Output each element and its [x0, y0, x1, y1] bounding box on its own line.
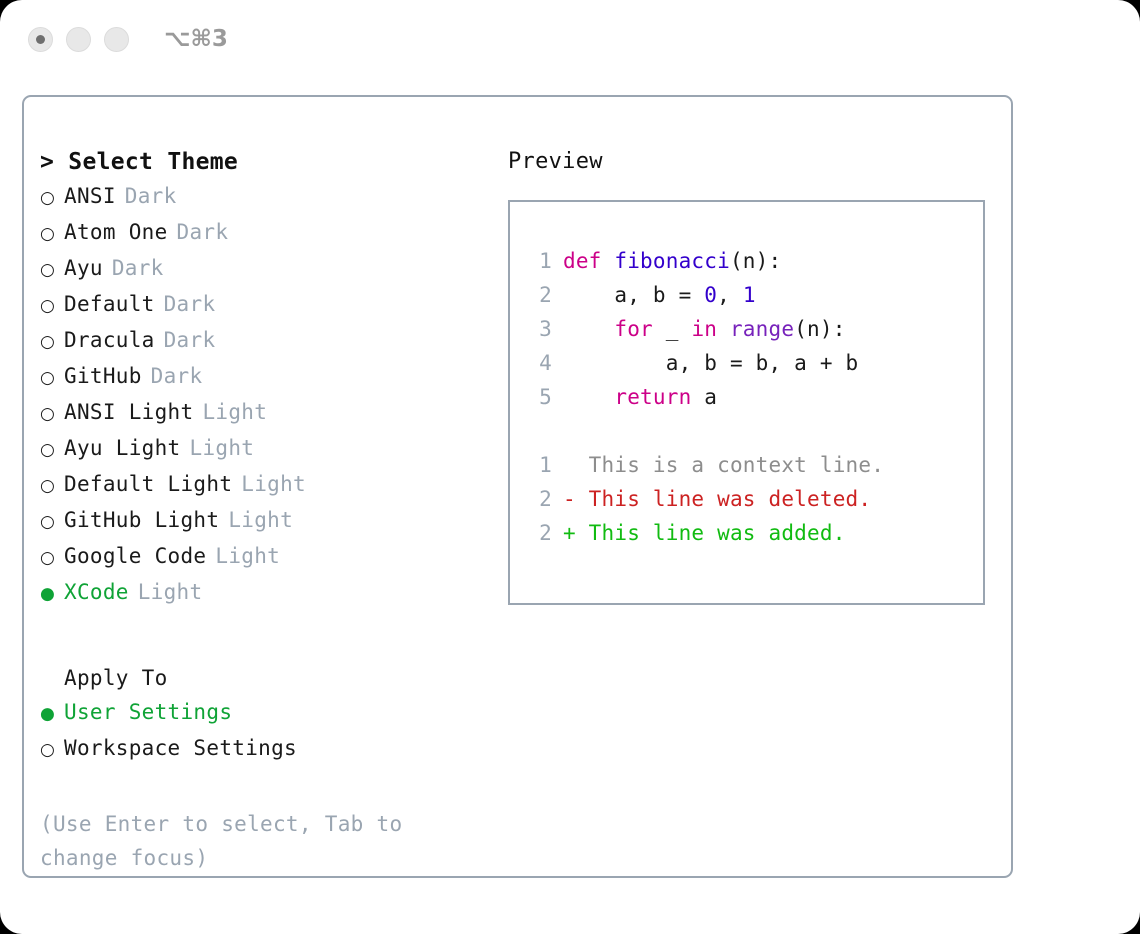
theme-option-tag: Light — [241, 467, 306, 501]
radio-unselected-icon: ○ — [40, 217, 64, 251]
code-line-number: 2 — [526, 278, 552, 312]
apply-to-list: ●User Settings○Workspace Settings — [40, 695, 494, 767]
radio-unselected-icon: ○ — [40, 253, 64, 287]
radio-unselected-icon: ○ — [40, 541, 64, 575]
theme-option-label: XCode — [64, 575, 129, 609]
diff-sample: 1 This is a context line.2- This line wa… — [526, 448, 983, 550]
theme-option-tag: Dark — [177, 215, 229, 249]
code-token-kw: in — [691, 317, 717, 341]
apply-to-option-label: User Settings — [64, 695, 232, 729]
theme-option-label: ANSI — [64, 179, 116, 213]
keyboard-hint: (Use Enter to select, Tab to change focu… — [40, 807, 452, 875]
code-token-plain: (n): — [730, 249, 781, 273]
theme-option-label: Dracula — [64, 323, 155, 357]
code-token-fn: fibonacci — [614, 249, 730, 273]
code-token-kw: return — [614, 385, 691, 409]
code-token-plain: a, b = b, a + b — [563, 351, 858, 375]
diff-marker: - — [563, 482, 576, 516]
theme-option-label: Default — [64, 287, 155, 321]
theme-option-label: Google Code — [64, 539, 206, 573]
theme-option-ayu-light[interactable]: ○Ayu LightLight — [40, 431, 494, 467]
code-line-content: a, b = 0, 1 — [563, 278, 756, 312]
code-token-plain: a, b = — [563, 283, 704, 307]
preview-column: Preview 1def fibonacci(n):2 a, b = 0, 13… — [494, 97, 1011, 876]
apply-to-option-workspace-settings[interactable]: ○Workspace Settings — [40, 731, 494, 767]
code-line-content: def fibonacci(n): — [563, 244, 781, 278]
code-line: 1def fibonacci(n): — [526, 244, 983, 278]
radio-unselected-icon: ○ — [40, 289, 64, 323]
theme-option-default[interactable]: ○DefaultDark — [40, 287, 494, 323]
code-line-content: a, b = b, a + b — [563, 346, 858, 380]
theme-option-ayu[interactable]: ○AyuDark — [40, 251, 494, 287]
window-dot-second[interactable] — [66, 27, 91, 52]
theme-option-label: Atom One — [64, 215, 168, 249]
code-token-num: 0 — [704, 283, 717, 307]
code-token-kw: def — [563, 249, 614, 273]
theme-option-dracula[interactable]: ○DraculaDark — [40, 323, 494, 359]
theme-option-label: Ayu — [64, 251, 103, 285]
theme-option-label: Ayu Light — [64, 431, 181, 465]
radio-unselected-icon: ○ — [40, 505, 64, 539]
apply-to-option-user-settings[interactable]: ●User Settings — [40, 695, 494, 731]
code-line: 5 return a — [526, 380, 983, 414]
diff-line-content: This is a context line. — [576, 448, 884, 482]
code-token-plain — [717, 317, 730, 341]
radio-selected-icon: ● — [40, 577, 64, 611]
diff-line-ctx: 1 This is a context line. — [526, 448, 983, 482]
code-token-num: 1 — [743, 283, 756, 307]
code-token-plain: _ — [653, 317, 692, 341]
code-diff-spacer — [526, 414, 983, 448]
code-line-number: 1 — [526, 244, 552, 278]
keyboard-shortcut-label: ⌥⌘3 — [164, 26, 228, 52]
theme-option-tag: Dark — [151, 359, 203, 393]
code-token-plain — [563, 385, 614, 409]
code-line-content: return a — [563, 380, 717, 414]
code-line-content: for _ in range(n): — [563, 312, 846, 346]
theme-option-label: Default Light — [64, 467, 232, 501]
theme-option-default-light[interactable]: ○Default LightLight — [40, 467, 494, 503]
theme-option-xcode[interactable]: ●XCodeLight — [40, 575, 494, 611]
theme-option-label: GitHub — [64, 359, 142, 393]
code-token-kw: for — [614, 317, 653, 341]
theme-option-github[interactable]: ○GitHubDark — [40, 359, 494, 395]
theme-picker-window: ⌥⌘3 > Select Theme ○ANSIDark○Atom OneDar… — [0, 0, 1140, 934]
theme-option-tag: Light — [138, 575, 203, 609]
code-line-number: 4 — [526, 346, 552, 380]
window-dot-third[interactable] — [104, 27, 129, 52]
code-line: 4 a, b = b, a + b — [526, 346, 983, 380]
diff-marker — [563, 448, 576, 482]
diff-line-add: 2+ This line was added. — [526, 516, 983, 550]
code-sample: 1def fibonacci(n):2 a, b = 0, 13 for _ i… — [526, 244, 983, 414]
code-token-call: range — [730, 317, 794, 341]
diff-line-number: 2 — [526, 482, 552, 516]
theme-option-tag: Dark — [164, 287, 216, 321]
code-token-plain: a — [691, 385, 717, 409]
theme-option-tag: Dark — [112, 251, 164, 285]
code-token-plain — [563, 317, 614, 341]
code-token-plain: , — [717, 283, 743, 307]
theme-option-label: ANSI Light — [64, 395, 193, 429]
apply-to-option-label: Workspace Settings — [64, 731, 297, 765]
theme-option-atom-one[interactable]: ○Atom OneDark — [40, 215, 494, 251]
radio-unselected-icon: ○ — [40, 433, 64, 467]
theme-option-tag: Light — [202, 395, 267, 429]
title-bar: ⌥⌘3 — [0, 0, 1140, 78]
apply-to-heading: Apply To — [40, 661, 494, 695]
code-line: 2 a, b = 0, 1 — [526, 278, 983, 312]
code-line-number: 5 — [526, 380, 552, 414]
theme-option-tag: Dark — [125, 179, 177, 213]
diff-line-content: This line was added. — [576, 516, 846, 550]
radio-unselected-icon: ○ — [40, 361, 64, 395]
theme-list-column: > Select Theme ○ANSIDark○Atom OneDark○Ay… — [24, 97, 494, 876]
preview-box: 1def fibonacci(n):2 a, b = 0, 13 for _ i… — [508, 200, 985, 605]
radio-unselected-icon: ○ — [40, 397, 64, 431]
radio-unselected-icon: ○ — [40, 181, 64, 215]
theme-option-google-code[interactable]: ○Google CodeLight — [40, 539, 494, 575]
window-dot-active[interactable] — [28, 27, 53, 52]
select-theme-heading: > Select Theme — [40, 145, 494, 179]
diff-line-content: This line was deleted. — [576, 482, 871, 516]
diff-line-number: 2 — [526, 516, 552, 550]
theme-list: ○ANSIDark○Atom OneDark○AyuDark○DefaultDa… — [40, 179, 494, 611]
theme-option-tag: Light — [190, 431, 255, 465]
theme-option-ansi[interactable]: ○ANSIDark — [40, 179, 494, 215]
preview-heading: Preview — [508, 145, 1011, 179]
diff-marker: + — [563, 516, 576, 550]
radio-unselected-icon: ○ — [40, 325, 64, 359]
diff-line-del: 2- This line was deleted. — [526, 482, 983, 516]
radio-unselected-icon: ○ — [40, 733, 64, 767]
theme-option-tag: Dark — [164, 323, 216, 357]
theme-option-ansi-light[interactable]: ○ANSI LightLight — [40, 395, 494, 431]
code-line-number: 3 — [526, 312, 552, 346]
radio-selected-icon: ● — [40, 697, 64, 731]
code-line: 3 for _ in range(n): — [526, 312, 983, 346]
theme-option-label: GitHub Light — [64, 503, 219, 537]
window-dot-active-inner — [36, 35, 45, 44]
theme-option-tag: Light — [228, 503, 293, 537]
diff-line-number: 1 — [526, 448, 552, 482]
window-controls — [28, 27, 129, 52]
theme-option-github-light[interactable]: ○GitHub LightLight — [40, 503, 494, 539]
code-token-plain: (n): — [794, 317, 845, 341]
theme-option-tag: Light — [215, 539, 280, 573]
radio-unselected-icon: ○ — [40, 469, 64, 503]
main-panel: > Select Theme ○ANSIDark○Atom OneDark○Ay… — [22, 95, 1013, 878]
